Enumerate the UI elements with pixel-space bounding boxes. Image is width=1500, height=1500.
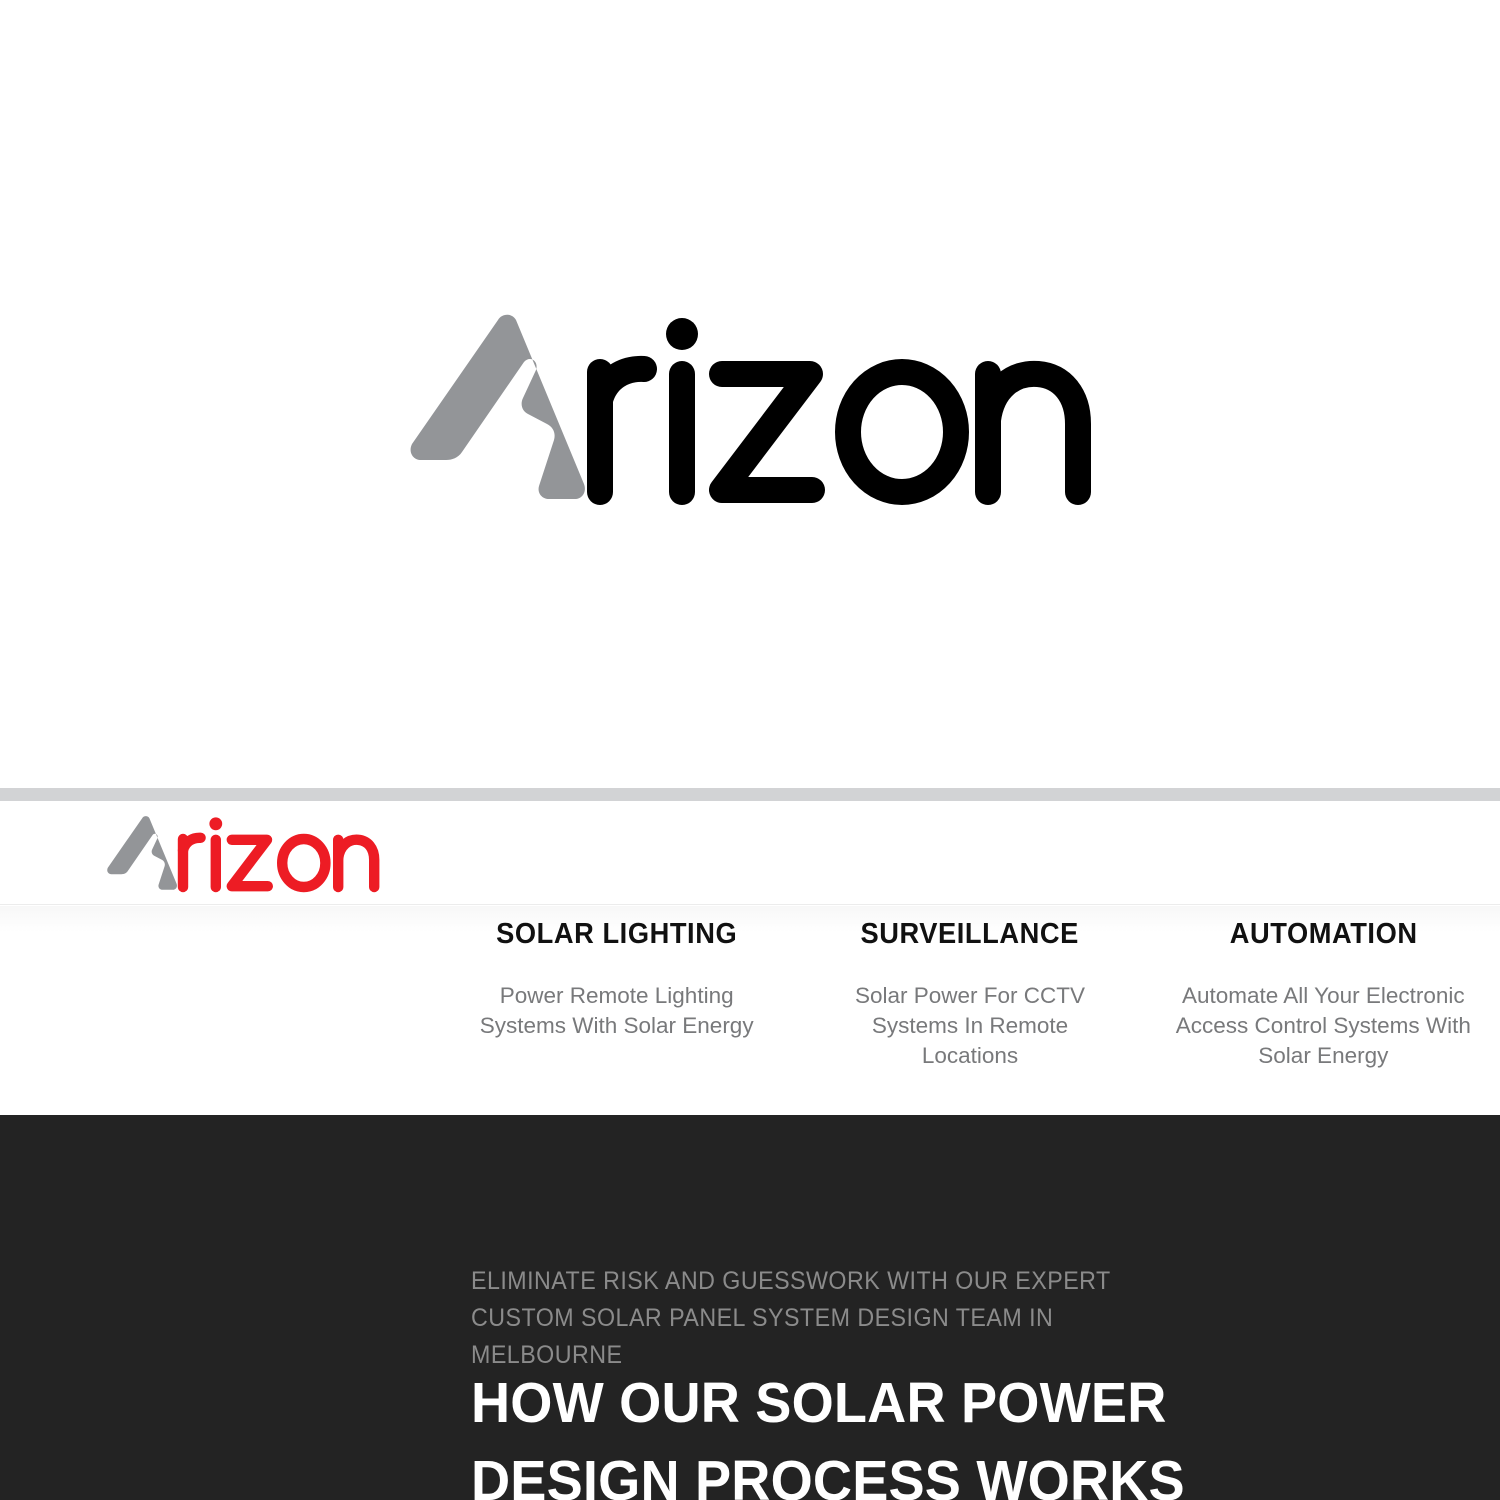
- feature-column-surveillance[interactable]: SURVEILLANCE Solar Power For CCTV System…: [793, 906, 1146, 1115]
- logo-letter-r-arc: [183, 838, 201, 850]
- logo-letter-o: [848, 372, 956, 492]
- logo-letter-z: [232, 840, 268, 886]
- section-divider-band: [0, 788, 1500, 801]
- feature-columns: SOLAR LIGHTING Power Remote Lighting Sys…: [0, 906, 1500, 1115]
- logo-mark-triangle: [107, 816, 177, 890]
- feature-column-solar-lighting[interactable]: SOLAR LIGHTING Power Remote Lighting Sys…: [440, 906, 793, 1115]
- logo-letter-n-arch: [988, 374, 1078, 492]
- section-eyebrow: ELIMINATE RISK AND GUESSWORK WITH OUR EX…: [471, 1263, 1206, 1374]
- logo-letter-o: [282, 839, 325, 887]
- logo-letter-i-dot: [209, 817, 222, 830]
- logo-mark-triangle: [411, 315, 585, 499]
- dark-intro-section: ELIMINATE RISK AND GUESSWORK WITH OUR EX…: [0, 1115, 1500, 1500]
- hero-logo[interactable]: [410, 312, 1100, 507]
- logo-letter-n-arch: [338, 840, 374, 887]
- logo-letter-z: [722, 374, 812, 490]
- logo-letter-r-arc: [600, 369, 644, 400]
- feature-title: SURVEILLANCE: [804, 919, 1136, 951]
- feature-title: SOLAR LIGHTING: [451, 919, 783, 951]
- hero-section: [0, 0, 1500, 788]
- feature-description: Automate All Your Electronic Access Cont…: [1147, 981, 1500, 1071]
- section-headline: HOW OUR SOLAR POWER DESIGN PROCESS WORKS: [471, 1364, 1326, 1500]
- logo-letter-i-dot: [666, 318, 698, 350]
- site-header: [0, 801, 1500, 905]
- header-logo[interactable]: [90, 815, 400, 893]
- feature-title: AUTOMATION: [1157, 919, 1489, 951]
- feature-description: Solar Power For CCTV Systems In Remote L…: [793, 981, 1146, 1071]
- arizon-logo-header: [90, 815, 400, 893]
- arizon-logo-hero: [410, 312, 1100, 507]
- feature-column-automation[interactable]: AUTOMATION Automate All Your Electronic …: [1147, 906, 1500, 1115]
- feature-description: Power Remote Lighting Systems With Solar…: [440, 981, 793, 1041]
- feature-strip-spacer: [0, 906, 440, 1115]
- page-root: SOLAR LIGHTING Power Remote Lighting Sys…: [0, 0, 1500, 1500]
